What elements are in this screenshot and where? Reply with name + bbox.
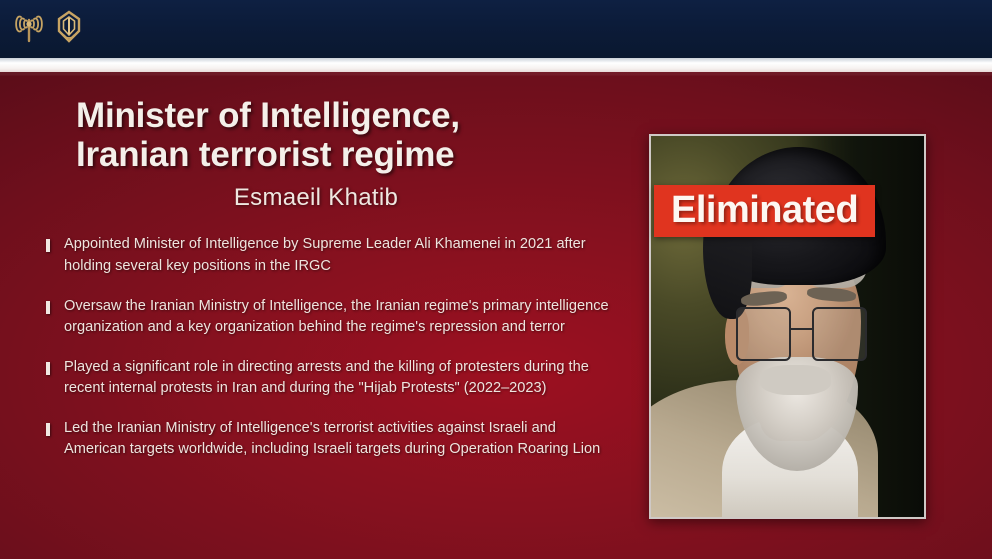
list-item-text: Led the Iranian Ministry of Intelligence… [64, 418, 609, 460]
bullet-marker-icon [46, 362, 50, 375]
portrait-glasses [736, 307, 867, 360]
bullet-marker-icon [46, 239, 50, 252]
bullet-marker-icon [46, 301, 50, 314]
list-item-text: Played a significant role in directing a… [64, 357, 609, 399]
top-bar-icon-group [14, 10, 85, 49]
slide-root: Minister of Intelligence, Iranian terror… [0, 0, 992, 559]
list-item: Led the Iranian Ministry of Intelligence… [46, 418, 646, 460]
glasses-lens-right [812, 307, 867, 360]
bullet-marker-icon [46, 423, 50, 436]
page-title: Minister of Intelligence, Iranian terror… [76, 96, 646, 174]
glasses-bridge [791, 328, 812, 330]
portrait-moustache [760, 365, 831, 395]
subject-name: Esmaeil Khatib [46, 184, 586, 212]
glasses-lens-left [736, 307, 791, 360]
idf-emblem-icon [53, 10, 85, 49]
list-item-text: Appointed Minister of Intelligence by Su… [64, 234, 609, 276]
title-line-2: Iranian terrorist regime [76, 135, 646, 174]
broadcast-antenna-icon [14, 11, 44, 48]
status-badge: Eliminated [654, 185, 875, 237]
bullet-list: Appointed Minister of Intelligence by Su… [46, 234, 646, 460]
list-item: Oversaw the Iranian Ministry of Intellig… [46, 296, 646, 338]
content-panel: Minister of Intelligence, Iranian terror… [0, 72, 992, 559]
list-item-text: Oversaw the Iranian Ministry of Intellig… [64, 296, 609, 338]
header-divider [0, 58, 992, 72]
list-item: Played a significant role in directing a… [46, 357, 646, 399]
left-column: Minister of Intelligence, Iranian terror… [46, 96, 646, 480]
list-item: Appointed Minister of Intelligence by Su… [46, 234, 646, 276]
title-line-1: Minister of Intelligence, [76, 96, 460, 135]
status-badge-label: Eliminated [671, 191, 858, 229]
top-bar [0, 0, 992, 58]
